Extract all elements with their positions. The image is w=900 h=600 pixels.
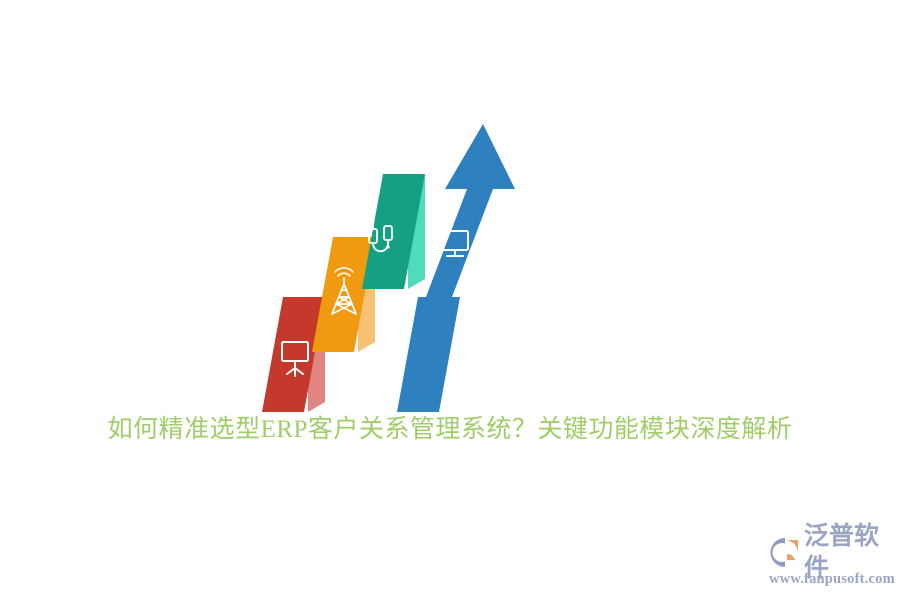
arrow-segment-red bbox=[262, 297, 325, 412]
logo-row: 泛普软件 bbox=[768, 534, 894, 570]
arrow-segment-teal bbox=[362, 174, 425, 289]
page-title: 如何精准选型ERP客户关系管理系统？关键功能模块深度解析 bbox=[0, 414, 900, 446]
logo-website-url: www.fanpusoft.com bbox=[768, 571, 894, 588]
article-banner: 如何精准选型ERP客户关系管理系统？关键功能模块深度解析 泛普软件 www.fa… bbox=[0, 0, 900, 600]
fanpu-logo-mark-icon bbox=[768, 536, 802, 568]
ascending-arrow-illustration bbox=[262, 112, 532, 412]
arrow-segment-orange bbox=[312, 237, 375, 352]
brand-logo[interactable]: 泛普软件 www.fanpusoft.com bbox=[768, 534, 894, 590]
